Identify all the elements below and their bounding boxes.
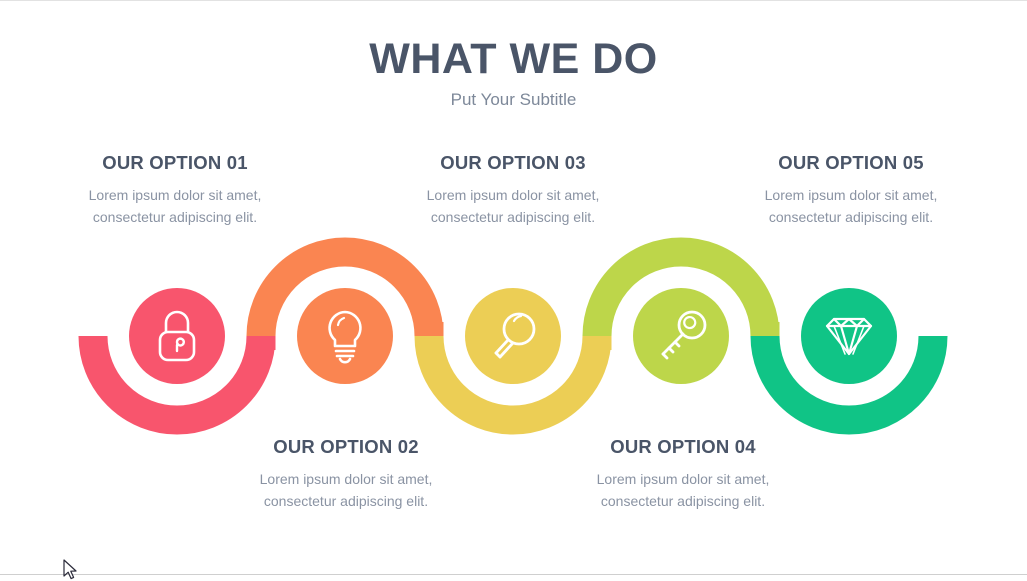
option-title-05: OUR OPTION 05 xyxy=(721,152,981,174)
option-block-01: OUR OPTION 01 Lorem ipsum dolor sit amet… xyxy=(45,152,305,229)
option-icon-circle-04[interactable] xyxy=(633,288,729,384)
slide-bottom-edge xyxy=(0,574,1027,575)
option-description-line1-03: Lorem ipsum dolor sit amet, xyxy=(427,187,600,203)
option-icon-circle-03[interactable] xyxy=(465,288,561,384)
option-title-04: OUR OPTION 04 xyxy=(553,436,813,458)
option-description-line1-05: Lorem ipsum dolor sit amet, xyxy=(765,187,938,203)
option-title-02: OUR OPTION 02 xyxy=(216,436,476,458)
option-block-03: OUR OPTION 03 Lorem ipsum dolor sit amet… xyxy=(383,152,643,229)
option-description-line1-04: Lorem ipsum dolor sit amet, xyxy=(597,471,770,487)
option-description-05: Lorem ipsum dolor sit amet, consectetur … xyxy=(721,185,981,228)
option-title-03: OUR OPTION 03 xyxy=(383,152,643,174)
option-icon-circle-02[interactable] xyxy=(297,288,393,384)
slide-canvas: WHAT WE DO Put Your Subtitle OUR OPTION … xyxy=(0,0,1027,580)
circle-background-05 xyxy=(801,288,897,384)
option-block-02: OUR OPTION 02 Lorem ipsum dolor sit amet… xyxy=(216,436,476,513)
option-description-line1-01: Lorem ipsum dolor sit amet, xyxy=(89,187,262,203)
option-icon-circle-01[interactable] xyxy=(129,288,225,384)
option-description-04: Lorem ipsum dolor sit amet, consectetur … xyxy=(553,469,813,512)
option-description-line2-04: consectetur adipiscing elit. xyxy=(601,493,765,509)
option-description-01: Lorem ipsum dolor sit amet, consectetur … xyxy=(45,185,305,228)
circle-background-01 xyxy=(129,288,225,384)
option-description-line2-02: consectetur adipiscing elit. xyxy=(264,493,428,509)
option-description-line2-01: consectetur adipiscing elit. xyxy=(93,209,257,225)
option-description-line1-02: Lorem ipsum dolor sit amet, xyxy=(260,471,433,487)
mouse-cursor-icon xyxy=(63,559,79,581)
page-title: WHAT WE DO xyxy=(0,37,1027,82)
option-description-02: Lorem ipsum dolor sit amet, consectetur … xyxy=(216,469,476,512)
option-block-04: OUR OPTION 04 Lorem ipsum dolor sit amet… xyxy=(553,436,813,513)
page-subtitle: Put Your Subtitle xyxy=(0,91,1027,110)
option-description-line2-03: consectetur adipiscing elit. xyxy=(431,209,595,225)
circle-background-03 xyxy=(465,288,561,384)
slide-header: WHAT WE DO Put Your Subtitle xyxy=(0,37,1027,110)
option-title-01: OUR OPTION 01 xyxy=(45,152,305,174)
option-description-03: Lorem ipsum dolor sit amet, consectetur … xyxy=(383,185,643,228)
option-description-line2-05: consectetur adipiscing elit. xyxy=(769,209,933,225)
option-block-05: OUR OPTION 05 Lorem ipsum dolor sit amet… xyxy=(721,152,981,229)
option-icon-circle-05[interactable] xyxy=(801,288,897,384)
circle-background-02 xyxy=(297,288,393,384)
